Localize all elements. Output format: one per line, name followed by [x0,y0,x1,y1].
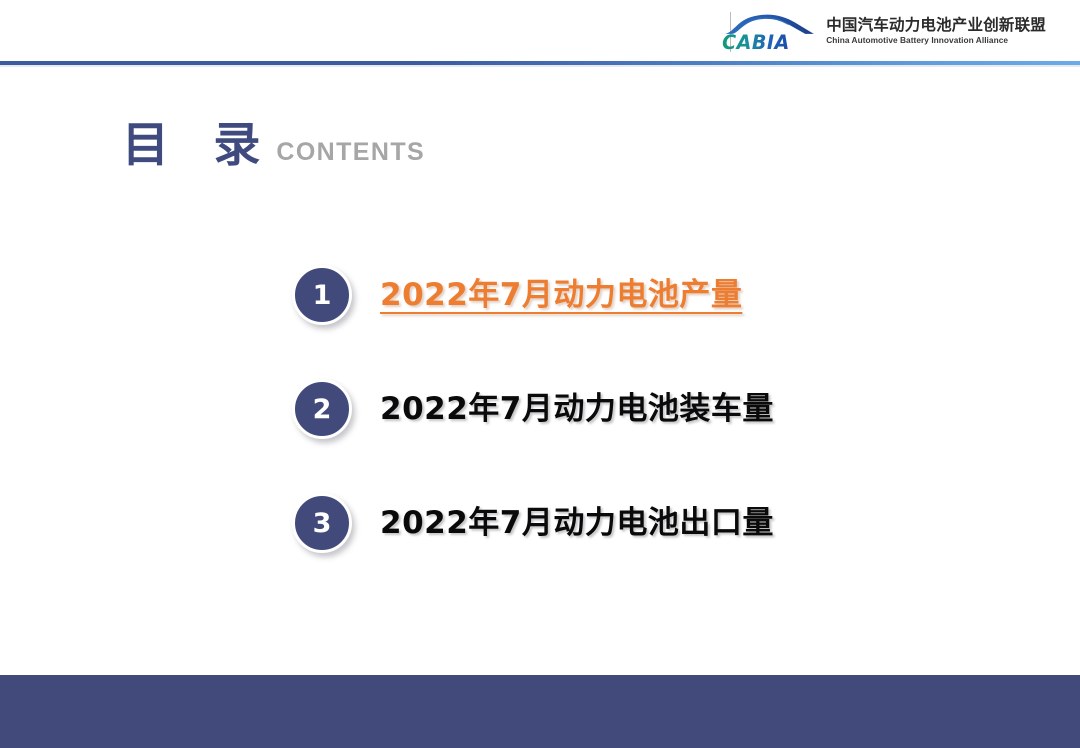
presentation-slide: CABIA 中国汽车动力电池产业创新联盟 China Automotive Ba… [0,0,1080,748]
header-divider-shadow [0,65,1080,67]
contents-label-2[interactable]: 2022年7月动力电池装车量 [380,392,774,426]
alliance-name-cn: 中国汽车动力电池产业创新联盟 [826,18,1046,34]
slide-footer-bar [0,675,1080,748]
alliance-name-en: China Automotive Battery Innovation Alli… [826,36,1046,44]
alliance-name-block: 中国汽车动力电池产业创新联盟 China Automotive Battery … [826,18,1046,45]
contents-badge-number-1: 1 [313,282,332,309]
slide-header: CABIA 中国汽车动力电池产业创新联盟 China Automotive Ba… [0,0,1080,62]
cabia-car-logo-icon: CABIA [720,10,816,52]
contents-badge-3: 3 [292,493,352,553]
contents-badge-number-3: 3 [313,510,332,537]
contents-badge-2: 2 [292,379,352,439]
contents-badge-number-2: 2 [313,396,332,423]
page-title: 目 录 CONTENTS [122,122,425,169]
contents-item-2[interactable]: 2 2022年7月动力电池装车量 [292,379,992,439]
contents-list: 1 2022年7月动力电池产量 2 2022年7月动力电池装车量 3 2022年… [292,265,992,553]
page-title-cn: 目 录 [122,122,274,169]
svg-text:CABIA: CABIA [722,31,790,52]
contents-label-1[interactable]: 2022年7月动力电池产量 [380,278,742,312]
page-title-en: CONTENTS [276,140,425,169]
contents-item-3[interactable]: 3 2022年7月动力电池出口量 [292,493,992,553]
alliance-logo: CABIA 中国汽车动力电池产业创新联盟 China Automotive Ba… [720,8,1046,54]
contents-item-1[interactable]: 1 2022年7月动力电池产量 [292,265,992,325]
contents-label-3[interactable]: 2022年7月动力电池出口量 [380,506,774,540]
contents-badge-1: 1 [292,265,352,325]
